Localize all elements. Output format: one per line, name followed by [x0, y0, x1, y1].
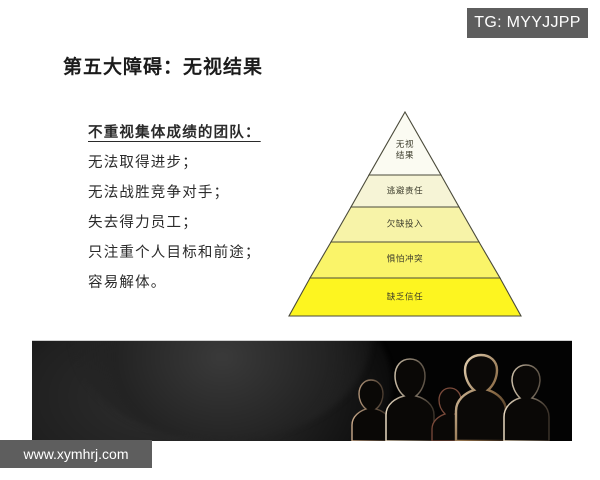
pyramid-tier-2-label: 惧怕冲突: [387, 255, 423, 266]
silhouette-person-2: [386, 359, 434, 441]
body-text-line: 容易解体。: [88, 268, 298, 298]
silhouette-person-1: [352, 380, 391, 441]
body-text-line: 失去得力员工；: [88, 208, 298, 238]
body-text-block: 不重视集体成绩的团队： 无法取得进步； 无法战胜竞争对手； 失去得力员工； 只注…: [88, 118, 298, 298]
pyramid-svg: [285, 105, 527, 323]
page-title: 第五大障碍：无视结果: [63, 52, 263, 79]
pyramid-tier-1-label: 缺乏信任: [387, 293, 423, 304]
photo-band: [32, 340, 572, 441]
body-text-line: 无法战胜竞争对手；: [88, 178, 298, 208]
site-watermark: www.xymhrj.com: [0, 440, 152, 468]
pyramid-tier-4-label: 逃避责任: [387, 187, 423, 198]
body-text-line: 只注重个人目标和前途；: [88, 238, 298, 268]
pyramid-diagram: 无视 结果 逃避责任 欠缺投入 惧怕冲突 缺乏信任: [285, 105, 527, 323]
silhouette-person-5: [504, 365, 549, 441]
pyramid-tier-5-label-line1: 无视: [396, 140, 414, 150]
people-silhouettes: [336, 353, 566, 441]
pyramid-tier-5-label-line2: 结果: [396, 151, 414, 161]
silhouette-person-4: [456, 355, 506, 441]
tg-watermark-badge: TG: MYYJJPP: [467, 8, 588, 38]
body-text-heading-row: 不重视集体成绩的团队：: [88, 118, 298, 148]
pyramid-tier-5-label: 无视 结果: [396, 140, 414, 162]
body-text-line: 无法取得进步；: [88, 148, 298, 178]
body-text-heading: 不重视集体成绩的团队：: [88, 118, 275, 148]
pyramid-tier-3-label: 欠缺投入: [387, 220, 423, 231]
